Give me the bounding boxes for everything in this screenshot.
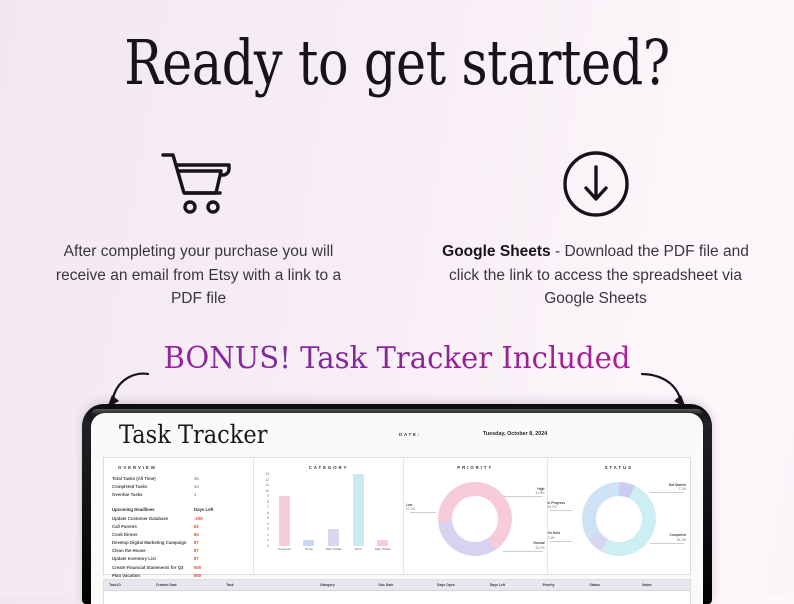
status-donut bbox=[582, 482, 656, 556]
page-title: Ready to get started? bbox=[71, 30, 722, 95]
deadlines-header-row: Upcoming Deadlines Days Left bbox=[112, 506, 245, 514]
task-table-column-header[interactable]: Due Date bbox=[374, 583, 433, 587]
deadline-task: Update Customer Database bbox=[112, 515, 194, 523]
category-bar bbox=[353, 474, 364, 546]
google-sheets-label: Google Sheets bbox=[442, 243, 551, 260]
category-y-tick: 10 bbox=[265, 489, 269, 493]
category-y-axis: 131211109876543210 bbox=[260, 474, 270, 546]
deadline-row: Clean the House87 bbox=[112, 547, 245, 555]
status-label-on-hold: On Hold7.1% bbox=[548, 531, 560, 540]
spreadsheet-header: Task Tracker DATE: Tuesday, October 8, 2… bbox=[91, 413, 703, 457]
category-y-tick: 5 bbox=[267, 516, 269, 520]
deadline-row: Update Customer Database-209 bbox=[112, 515, 245, 523]
deadline-task: Call Parents bbox=[112, 523, 194, 531]
dashboard-panel: OVERVIEW Total Tasks (All Time) 26 Compl… bbox=[103, 457, 691, 575]
leader-line bbox=[650, 543, 684, 544]
status-label-not-started: Not Started7.1% bbox=[669, 483, 686, 492]
category-y-tick: 13 bbox=[265, 472, 269, 476]
leader-line bbox=[550, 541, 572, 542]
shopping-cart-icon bbox=[159, 146, 239, 222]
deadline-days-left: 62 bbox=[194, 523, 220, 531]
overview-stat-value: 14 bbox=[194, 483, 220, 491]
deadline-task: Cook Dinner bbox=[112, 531, 194, 539]
category-x-label: Personal bbox=[272, 547, 296, 551]
category-bar bbox=[303, 540, 314, 546]
category-x-label: Home bbox=[297, 547, 321, 551]
date-label: DATE: bbox=[399, 432, 421, 437]
status-value-in-progress: 34.7% bbox=[548, 505, 566, 509]
category-y-tick: 12 bbox=[265, 478, 269, 482]
category-y-tick: 4 bbox=[267, 522, 269, 526]
deadline-days-left: -209 bbox=[194, 515, 220, 523]
task-table-column-header[interactable]: Task ID bbox=[104, 583, 151, 587]
priority-label-high: High41.9% bbox=[535, 487, 544, 496]
overview-stat-label: Total Tasks (All Time) bbox=[112, 475, 194, 483]
info-column-purchase: After completing your purchase you will … bbox=[0, 146, 397, 311]
task-table-column-header[interactable]: Days Open bbox=[432, 583, 485, 587]
priority-value-high: 41.9% bbox=[535, 491, 544, 495]
priority-label-low: Low27.1% bbox=[406, 503, 415, 512]
category-y-tick: 6 bbox=[267, 511, 269, 515]
deadline-row: Cook Dinner84 bbox=[112, 531, 245, 539]
date-value: Tuesday, October 8, 2024 bbox=[483, 431, 547, 437]
deadline-row: Develop Digital Marketing Campaign87 bbox=[112, 539, 245, 547]
priority-donut bbox=[438, 482, 512, 556]
category-y-tick: 1 bbox=[267, 538, 269, 542]
status-donut-chart: In Progress34.7% On Hold7.1% Not Started… bbox=[548, 470, 691, 566]
category-y-tick: 7 bbox=[267, 505, 269, 509]
category-y-tick: 0 bbox=[267, 544, 269, 548]
download-circle-icon bbox=[560, 146, 632, 222]
task-table-column-header[interactable]: Task bbox=[221, 583, 315, 587]
overview-stat-row: Total Tasks (All Time) 26 bbox=[112, 475, 245, 483]
category-bar bbox=[377, 540, 388, 546]
priority-chart-section: PRIORITY Low27.1% High41.9% Normal33.7% bbox=[404, 458, 548, 574]
tablet-screen: Task Tracker DATE: Tuesday, October 8, 2… bbox=[91, 413, 703, 604]
category-y-tick: 9 bbox=[267, 494, 269, 498]
priority-value-low: 27.1% bbox=[406, 507, 415, 511]
status-value-not-started: 7.1% bbox=[669, 487, 686, 491]
deadline-days-left: 87 bbox=[194, 547, 220, 555]
deadline-row: Create Financial Statements for Q3500 bbox=[112, 564, 245, 572]
overview-stat-value: 1 bbox=[194, 491, 220, 499]
task-table-column-header[interactable]: Notes bbox=[637, 583, 690, 587]
status-chart-title: STATUS bbox=[548, 458, 691, 470]
info-column-google-sheets: Google Sheets - Download the PDF file an… bbox=[397, 146, 794, 311]
leader-line bbox=[650, 492, 684, 493]
category-y-tick: 3 bbox=[267, 527, 269, 531]
category-y-tick: 8 bbox=[267, 500, 269, 504]
spreadsheet-title: Task Tracker bbox=[119, 420, 268, 449]
category-bar bbox=[279, 496, 290, 546]
task-table-column-header[interactable]: Days Left bbox=[485, 583, 538, 587]
deadline-task: Create Financial Statements for Q3 bbox=[112, 564, 194, 572]
status-label-in-progress: In Progress34.7% bbox=[548, 501, 566, 510]
deadlines-header-value: Days Left bbox=[194, 506, 220, 514]
category-y-tick: 11 bbox=[265, 483, 269, 487]
category-bar bbox=[328, 529, 339, 546]
status-value-completed: 51.1% bbox=[670, 538, 686, 542]
status-label-completed: Completed51.1% bbox=[670, 533, 686, 542]
task-table: Task IDCreated DateTaskCategoryDue DateD… bbox=[103, 579, 691, 604]
category-bars bbox=[272, 474, 395, 546]
deadline-task: Clean the House bbox=[112, 547, 194, 555]
category-x-label: Work bbox=[346, 547, 370, 551]
tablet-mockup: Task Tracker DATE: Tuesday, October 8, 2… bbox=[82, 404, 712, 604]
deadline-days-left: 84 bbox=[194, 531, 220, 539]
overview-title: OVERVIEW bbox=[112, 458, 245, 475]
deadlines-header-label: Upcoming Deadlines bbox=[112, 506, 194, 514]
leader-line bbox=[550, 510, 572, 511]
deadline-row: Update Inventory List87 bbox=[112, 555, 245, 563]
leader-line bbox=[503, 551, 543, 552]
task-table-column-header[interactable]: Status bbox=[584, 583, 637, 587]
spacer bbox=[112, 499, 245, 506]
overview-stat-label: Overdue Tasks bbox=[112, 491, 194, 499]
category-x-label: Side Hustle bbox=[321, 547, 345, 551]
purchase-description: After completing your purchase you will … bbox=[39, 240, 359, 311]
deadline-row: Call Parents62 bbox=[112, 523, 245, 531]
leader-line bbox=[503, 496, 543, 497]
info-columns: After completing your purchase you will … bbox=[0, 146, 794, 311]
overview-stat-label: Completed Tasks bbox=[112, 483, 194, 491]
status-value-on-hold: 7.1% bbox=[548, 536, 560, 540]
overview-stat-row: Completed Tasks 14 bbox=[112, 483, 245, 491]
category-chart-section: CATEGORY 131211109876543210 PersonalHome… bbox=[254, 458, 404, 574]
promo-graphic: Ready to get started? After completing y… bbox=[0, 0, 794, 596]
overview-stat-row: Overdue Tasks 1 bbox=[112, 491, 245, 499]
category-chart-title: CATEGORY bbox=[254, 458, 403, 470]
status-chart-section: STATUS In Progress34.7% On Hold7.1% Not … bbox=[548, 458, 691, 574]
priority-label-normal: Normal33.7% bbox=[534, 541, 545, 550]
task-table-column-header[interactable]: Created Date bbox=[151, 583, 221, 587]
deadline-days-left: 87 bbox=[194, 555, 220, 563]
task-table-column-header[interactable]: Priority bbox=[538, 583, 585, 587]
deadline-task: Update Inventory List bbox=[112, 555, 194, 563]
priority-chart-title: PRIORITY bbox=[404, 458, 547, 470]
category-y-tick: 2 bbox=[267, 533, 269, 537]
overview-section: OVERVIEW Total Tasks (All Time) 26 Compl… bbox=[104, 458, 254, 574]
deadline-days-left: 500 bbox=[194, 564, 220, 572]
category-x-label: Side Hustle bbox=[371, 547, 395, 551]
priority-value-normal: 33.7% bbox=[534, 546, 545, 550]
deadline-days-left: 87 bbox=[194, 539, 220, 547]
deadline-task: Develop Digital Marketing Campaign bbox=[112, 539, 194, 547]
task-table-header: Task IDCreated DateTaskCategoryDue DateD… bbox=[104, 580, 690, 591]
leader-line bbox=[410, 512, 436, 513]
google-sheets-description: Google Sheets - Download the PDF file an… bbox=[436, 240, 756, 311]
category-x-labels: PersonalHomeSide HustleWorkSide Hustle bbox=[272, 547, 395, 558]
task-table-column-header[interactable]: Category bbox=[315, 583, 374, 587]
overview-stat-value: 26 bbox=[194, 475, 220, 483]
category-bar-chart: 131211109876543210 PersonalHomeSide Hust… bbox=[260, 474, 397, 558]
priority-donut-chart: Low27.1% High41.9% Normal33.7% bbox=[404, 470, 547, 566]
